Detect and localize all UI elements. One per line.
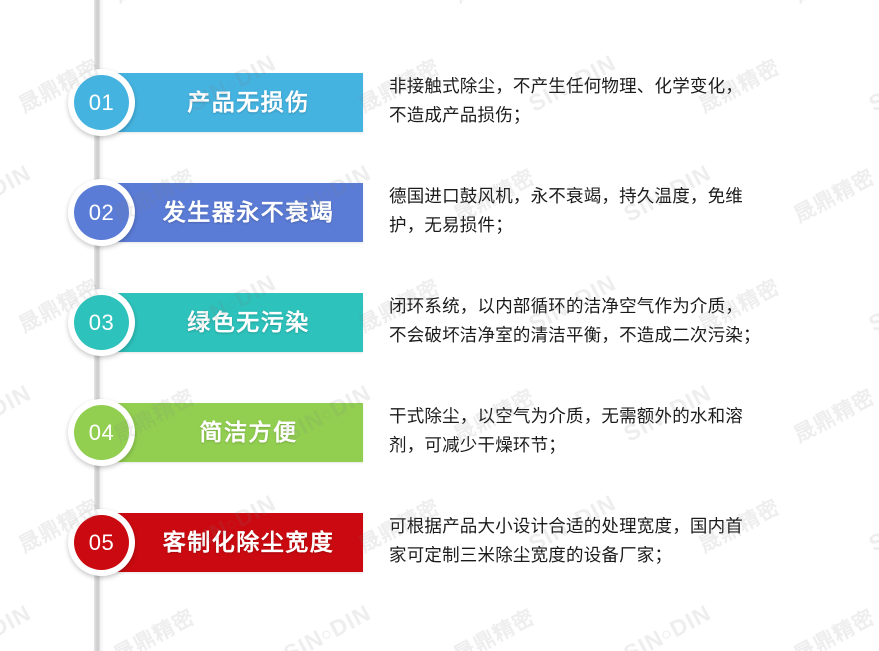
feature-bar[interactable]: 客制化除尘宽度 — [100, 513, 363, 572]
feature-row: 发生器永不衰竭 02 德国进口鼓风机，永不衰竭，持久温度，免维 护，无易损件； — [0, 170, 879, 280]
description-line: 不造成产品损伤； — [389, 101, 837, 130]
feature-number-badge[interactable]: 05 — [68, 509, 135, 576]
feature-number-badge[interactable]: 01 — [68, 69, 135, 136]
feature-number: 03 — [74, 295, 129, 350]
feature-description: 闭环系统，以内部循环的洁净空气作为介质， 不会破坏洁净室的清洁平衡，不造成二次污… — [389, 292, 837, 350]
feature-row: 产品无损伤 01 非接触式除尘，不产生任何物理、化学变化， 不造成产品损伤； — [0, 60, 879, 170]
feature-number-badge[interactable]: 03 — [68, 289, 135, 356]
feature-number-badge[interactable]: 04 — [68, 399, 135, 466]
description-line: 剂，可减少干燥环节； — [389, 431, 837, 460]
feature-title: 发生器永不衰竭 — [129, 201, 335, 224]
feature-row: 客制化除尘宽度 05 可根据产品大小设计合适的处理宽度，国内首 家可定制三米除尘… — [0, 500, 879, 610]
feature-number: 02 — [74, 185, 129, 240]
feature-description: 德国进口鼓风机，永不衰竭，持久温度，免维 护，无易损件； — [389, 182, 837, 240]
infographic-stage: 产品无损伤 01 非接触式除尘，不产生任何物理、化学变化， 不造成产品损伤； 发… — [0, 0, 879, 651]
description-line: 闭环系统，以内部循环的洁净空气作为介质， — [389, 292, 837, 321]
description-line: 可根据产品大小设计合适的处理宽度，国内首 — [389, 512, 837, 541]
feature-description: 非接触式除尘，不产生任何物理、化学变化， 不造成产品损伤； — [389, 72, 837, 130]
description-line: 德国进口鼓风机，永不衰竭，持久温度，免维 — [389, 182, 837, 211]
feature-title: 绿色无污染 — [153, 311, 310, 334]
feature-title: 产品无损伤 — [153, 91, 310, 114]
description-line: 不会破坏洁净室的清洁平衡，不造成二次污染； — [389, 321, 837, 350]
feature-number: 04 — [74, 405, 129, 460]
description-line: 非接触式除尘，不产生任何物理、化学变化， — [389, 72, 837, 101]
description-line: 护，无易损件； — [389, 211, 837, 240]
feature-row: 简洁方便 04 干式除尘，以空气为介质，无需额外的水和溶 剂，可减少干燥环节； — [0, 390, 879, 500]
description-line: 家可定制三米除尘宽度的设备厂家； — [389, 541, 837, 570]
feature-number: 05 — [74, 515, 129, 570]
feature-title: 简洁方便 — [166, 421, 298, 444]
feature-description: 干式除尘，以空气为介质，无需额外的水和溶 剂，可减少干燥环节； — [389, 402, 837, 460]
feature-description: 可根据产品大小设计合适的处理宽度，国内首 家可定制三米除尘宽度的设备厂家； — [389, 512, 837, 570]
description-line: 干式除尘，以空气为介质，无需额外的水和溶 — [389, 402, 837, 431]
feature-bar[interactable]: 产品无损伤 — [100, 73, 363, 132]
feature-title: 客制化除尘宽度 — [129, 531, 335, 554]
feature-row: 绿色无污染 03 闭环系统，以内部循环的洁净空气作为介质， 不会破坏洁净室的清洁… — [0, 280, 879, 390]
feature-bar[interactable]: 发生器永不衰竭 — [100, 183, 363, 242]
feature-bar[interactable]: 绿色无污染 — [100, 293, 363, 352]
feature-bar[interactable]: 简洁方便 — [100, 403, 363, 462]
feature-number-badge[interactable]: 02 — [68, 179, 135, 246]
feature-number: 01 — [74, 75, 129, 130]
